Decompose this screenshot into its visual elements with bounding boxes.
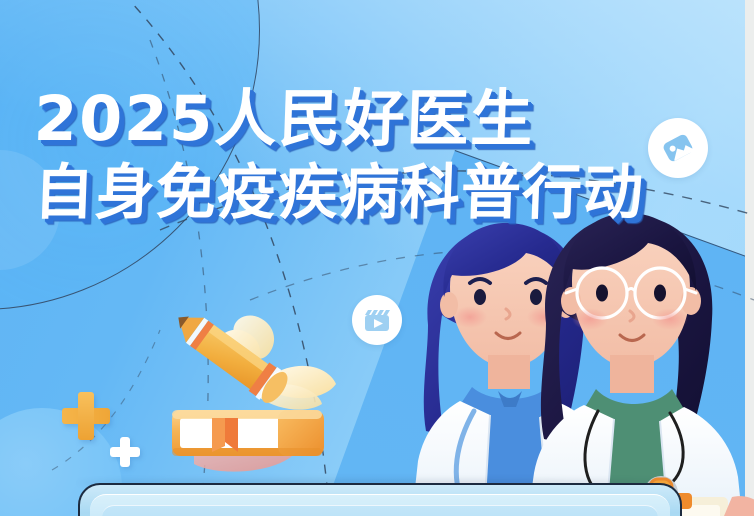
doctors-illustration bbox=[398, 205, 754, 516]
eye-right bbox=[530, 289, 542, 305]
bottom-card-panel bbox=[78, 483, 682, 516]
title-line-2: 自身免疫疾病科普行动 bbox=[33, 156, 726, 230]
image-badge[interactable] bbox=[648, 118, 708, 178]
image-icon bbox=[660, 130, 696, 166]
plus-icon-large bbox=[62, 392, 110, 440]
video-clapperboard-icon bbox=[361, 304, 393, 336]
winged-pencil-and-book-illustration bbox=[150, 300, 350, 500]
title-line-1: 2025人民好医生 bbox=[33, 82, 726, 156]
bottom-card-inner-2 bbox=[102, 505, 658, 516]
video-badge[interactable] bbox=[352, 295, 402, 345]
poster-title: 2025人民好医生 自身免疫疾病科普行动 bbox=[34, 82, 724, 230]
pencil bbox=[167, 303, 292, 408]
poster-canvas: 2025人民好医生 自身免疫疾病科普行动 bbox=[0, 0, 754, 516]
eye-left bbox=[474, 289, 486, 305]
plus-icon-small bbox=[110, 437, 140, 467]
book bbox=[172, 410, 324, 456]
